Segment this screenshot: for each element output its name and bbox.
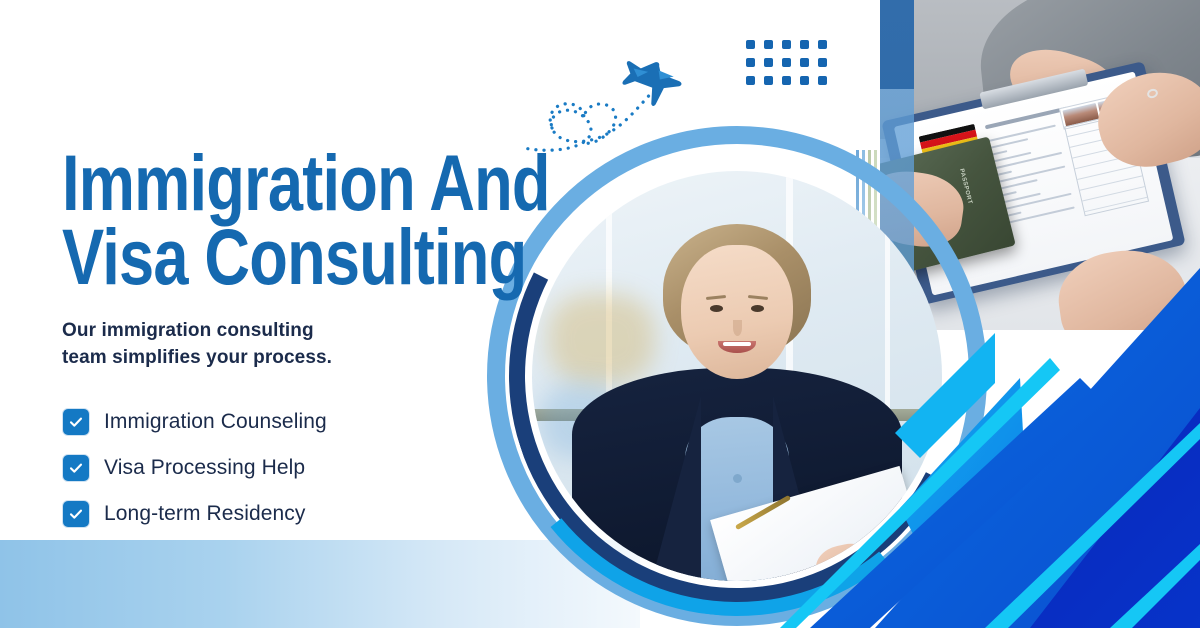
checkmark-icon xyxy=(62,454,90,482)
feature-label: Long-term Residency xyxy=(104,502,306,526)
page-title: Immigration And Visa Consulting xyxy=(62,146,446,295)
checkmark-icon xyxy=(62,500,90,528)
checkmark-icon xyxy=(62,408,90,436)
feature-label: Visa Processing Help xyxy=(104,456,305,480)
dot-grid xyxy=(746,40,832,90)
feature-checklist: Immigration Counseling Visa Processing H… xyxy=(62,408,542,528)
text-content: Immigration And Visa Consulting Our immi… xyxy=(62,146,542,546)
airplane-trail-decoration xyxy=(522,42,708,154)
list-item: Visa Processing Help xyxy=(62,454,542,482)
subtitle: Our immigration consulting team simplifi… xyxy=(62,317,352,372)
feature-label: Immigration Counseling xyxy=(104,410,327,434)
immigration-banner: PASSPORT xyxy=(0,0,1200,628)
list-item: Immigration Counseling xyxy=(62,408,542,436)
list-item: Long-term Residency xyxy=(62,500,542,528)
airplane-icon xyxy=(615,48,685,112)
headline-line-2: Visa Consulting xyxy=(62,220,446,294)
diagonal-blue-shapes xyxy=(780,208,1200,628)
